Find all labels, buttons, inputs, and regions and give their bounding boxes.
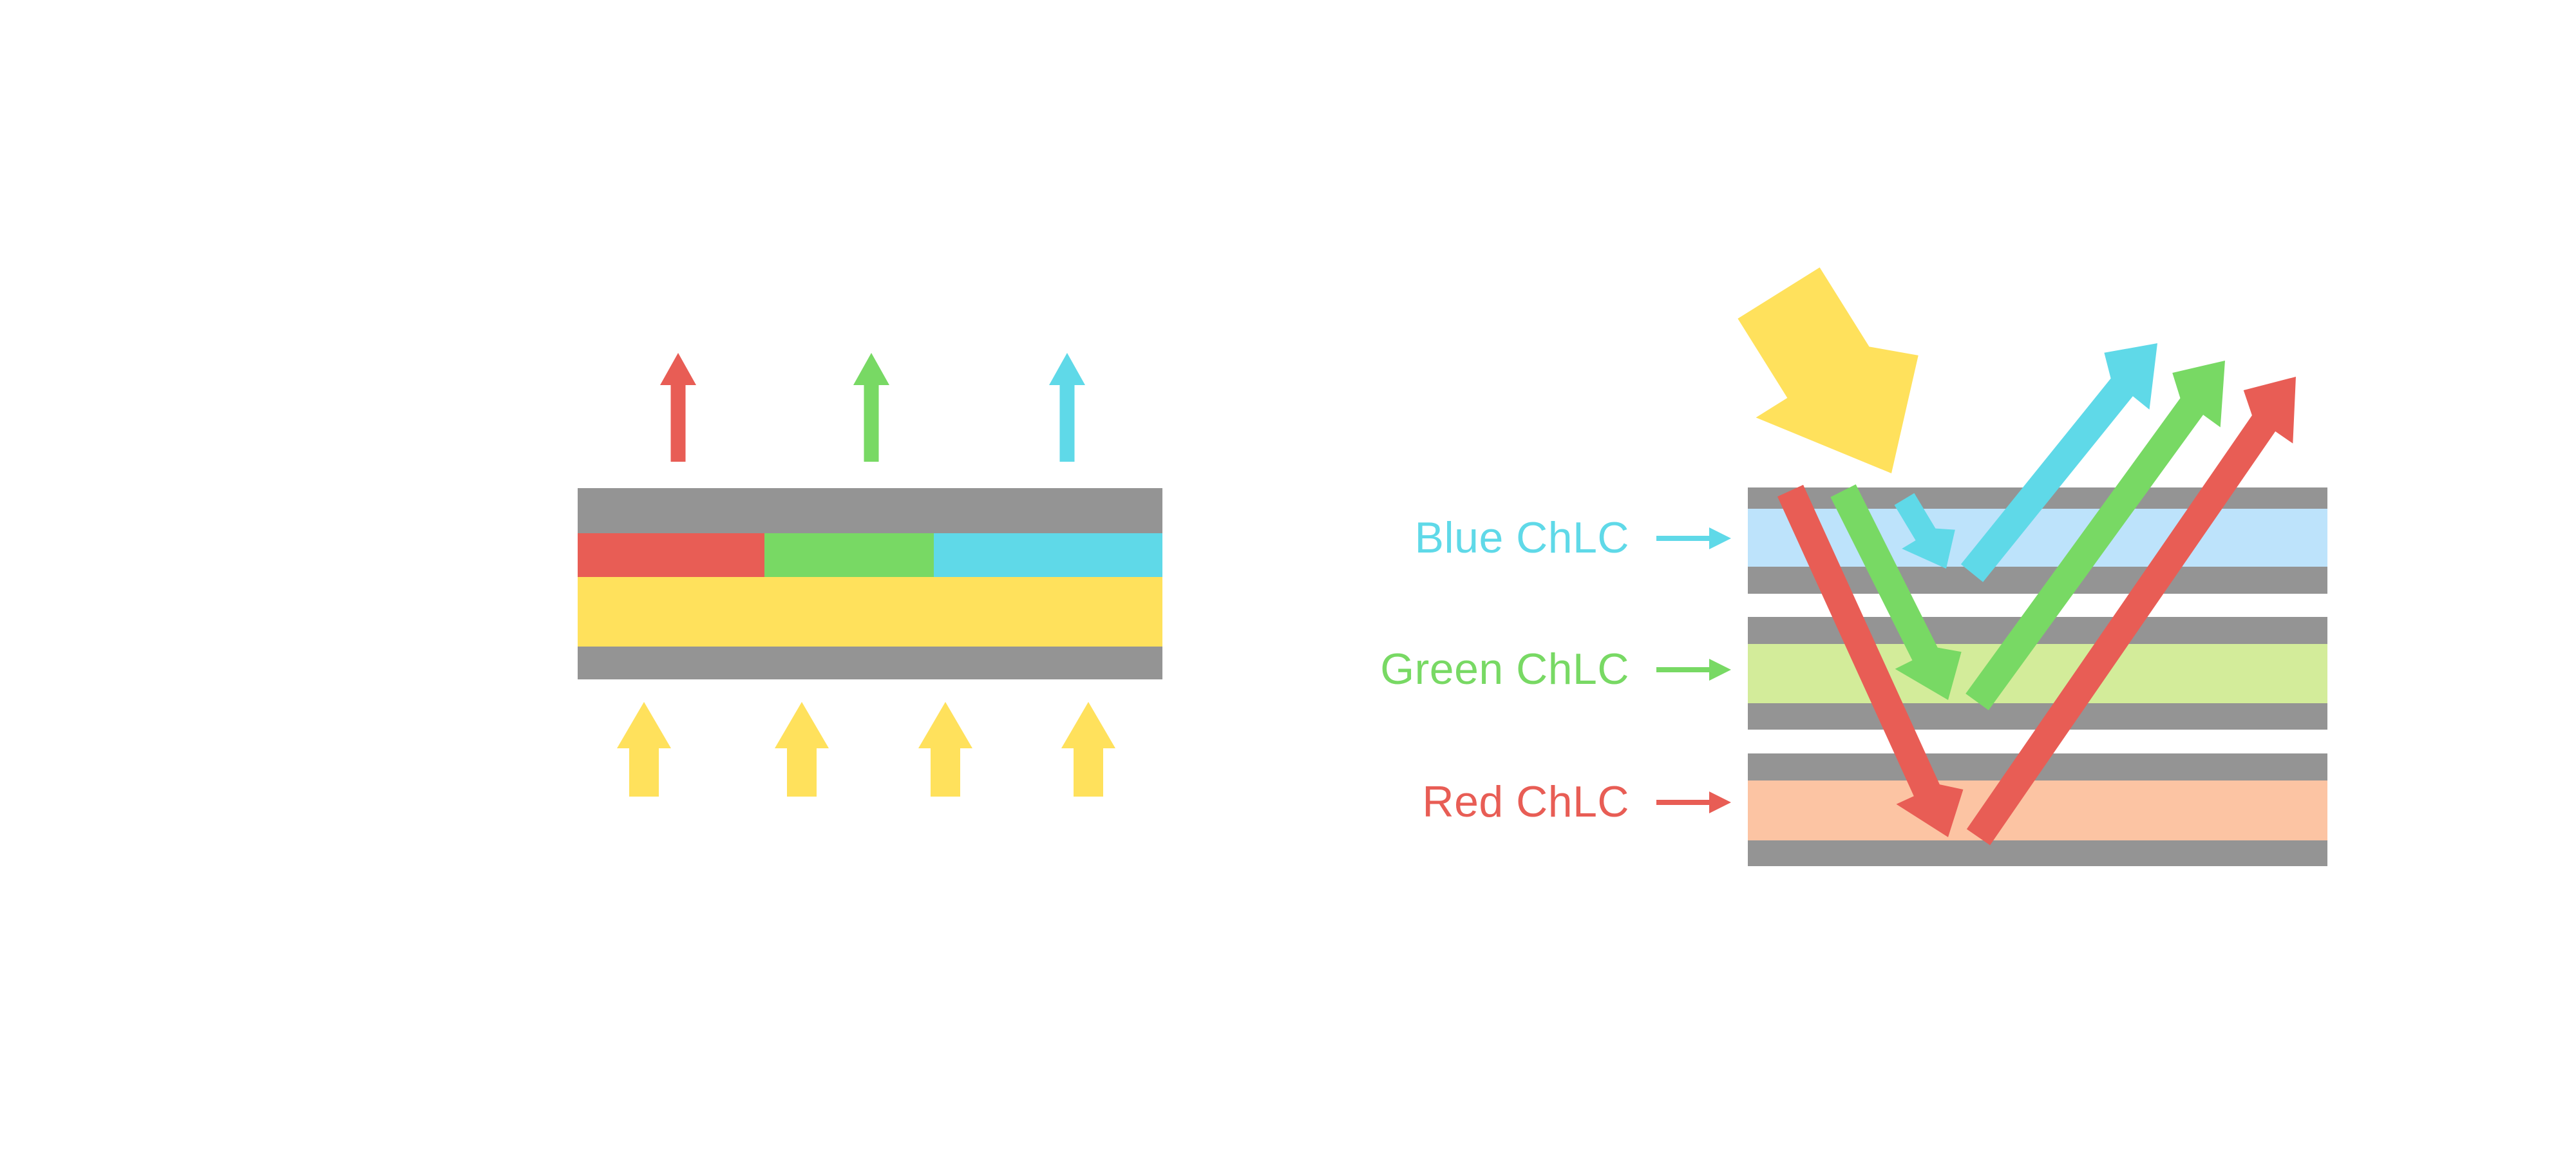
- figure-canvas: Blue ChLC Green ChLC Red ChLC: [0, 0, 2576, 1154]
- ambient-light-arrow: [1738, 267, 1918, 473]
- label-pointer-arrows: [1656, 527, 1731, 813]
- chlc-labels: Blue ChLC Green ChLC Red ChLC: [1380, 513, 1629, 826]
- green-label-arrow-icon: [1656, 659, 1731, 681]
- blue-label-arrow-icon: [1656, 527, 1731, 549]
- chlc-stack: [1748, 487, 2327, 866]
- green-chlc-layer: [1748, 644, 2327, 703]
- red-chlc-label: Red ChLC: [1423, 777, 1630, 826]
- green-cell-bottom-electrode: [1748, 703, 2327, 730]
- blue-chlc-label: Blue ChLC: [1415, 513, 1629, 562]
- red-chlc-layer: [1748, 780, 2327, 840]
- green-chlc-label: Green ChLC: [1380, 645, 1629, 694]
- right-panel-graphics: Blue ChLC Green ChLC Red ChLC: [0, 0, 2576, 1154]
- red-cell-bottom-electrode: [1748, 840, 2327, 866]
- red-label-arrow-icon: [1656, 791, 1731, 813]
